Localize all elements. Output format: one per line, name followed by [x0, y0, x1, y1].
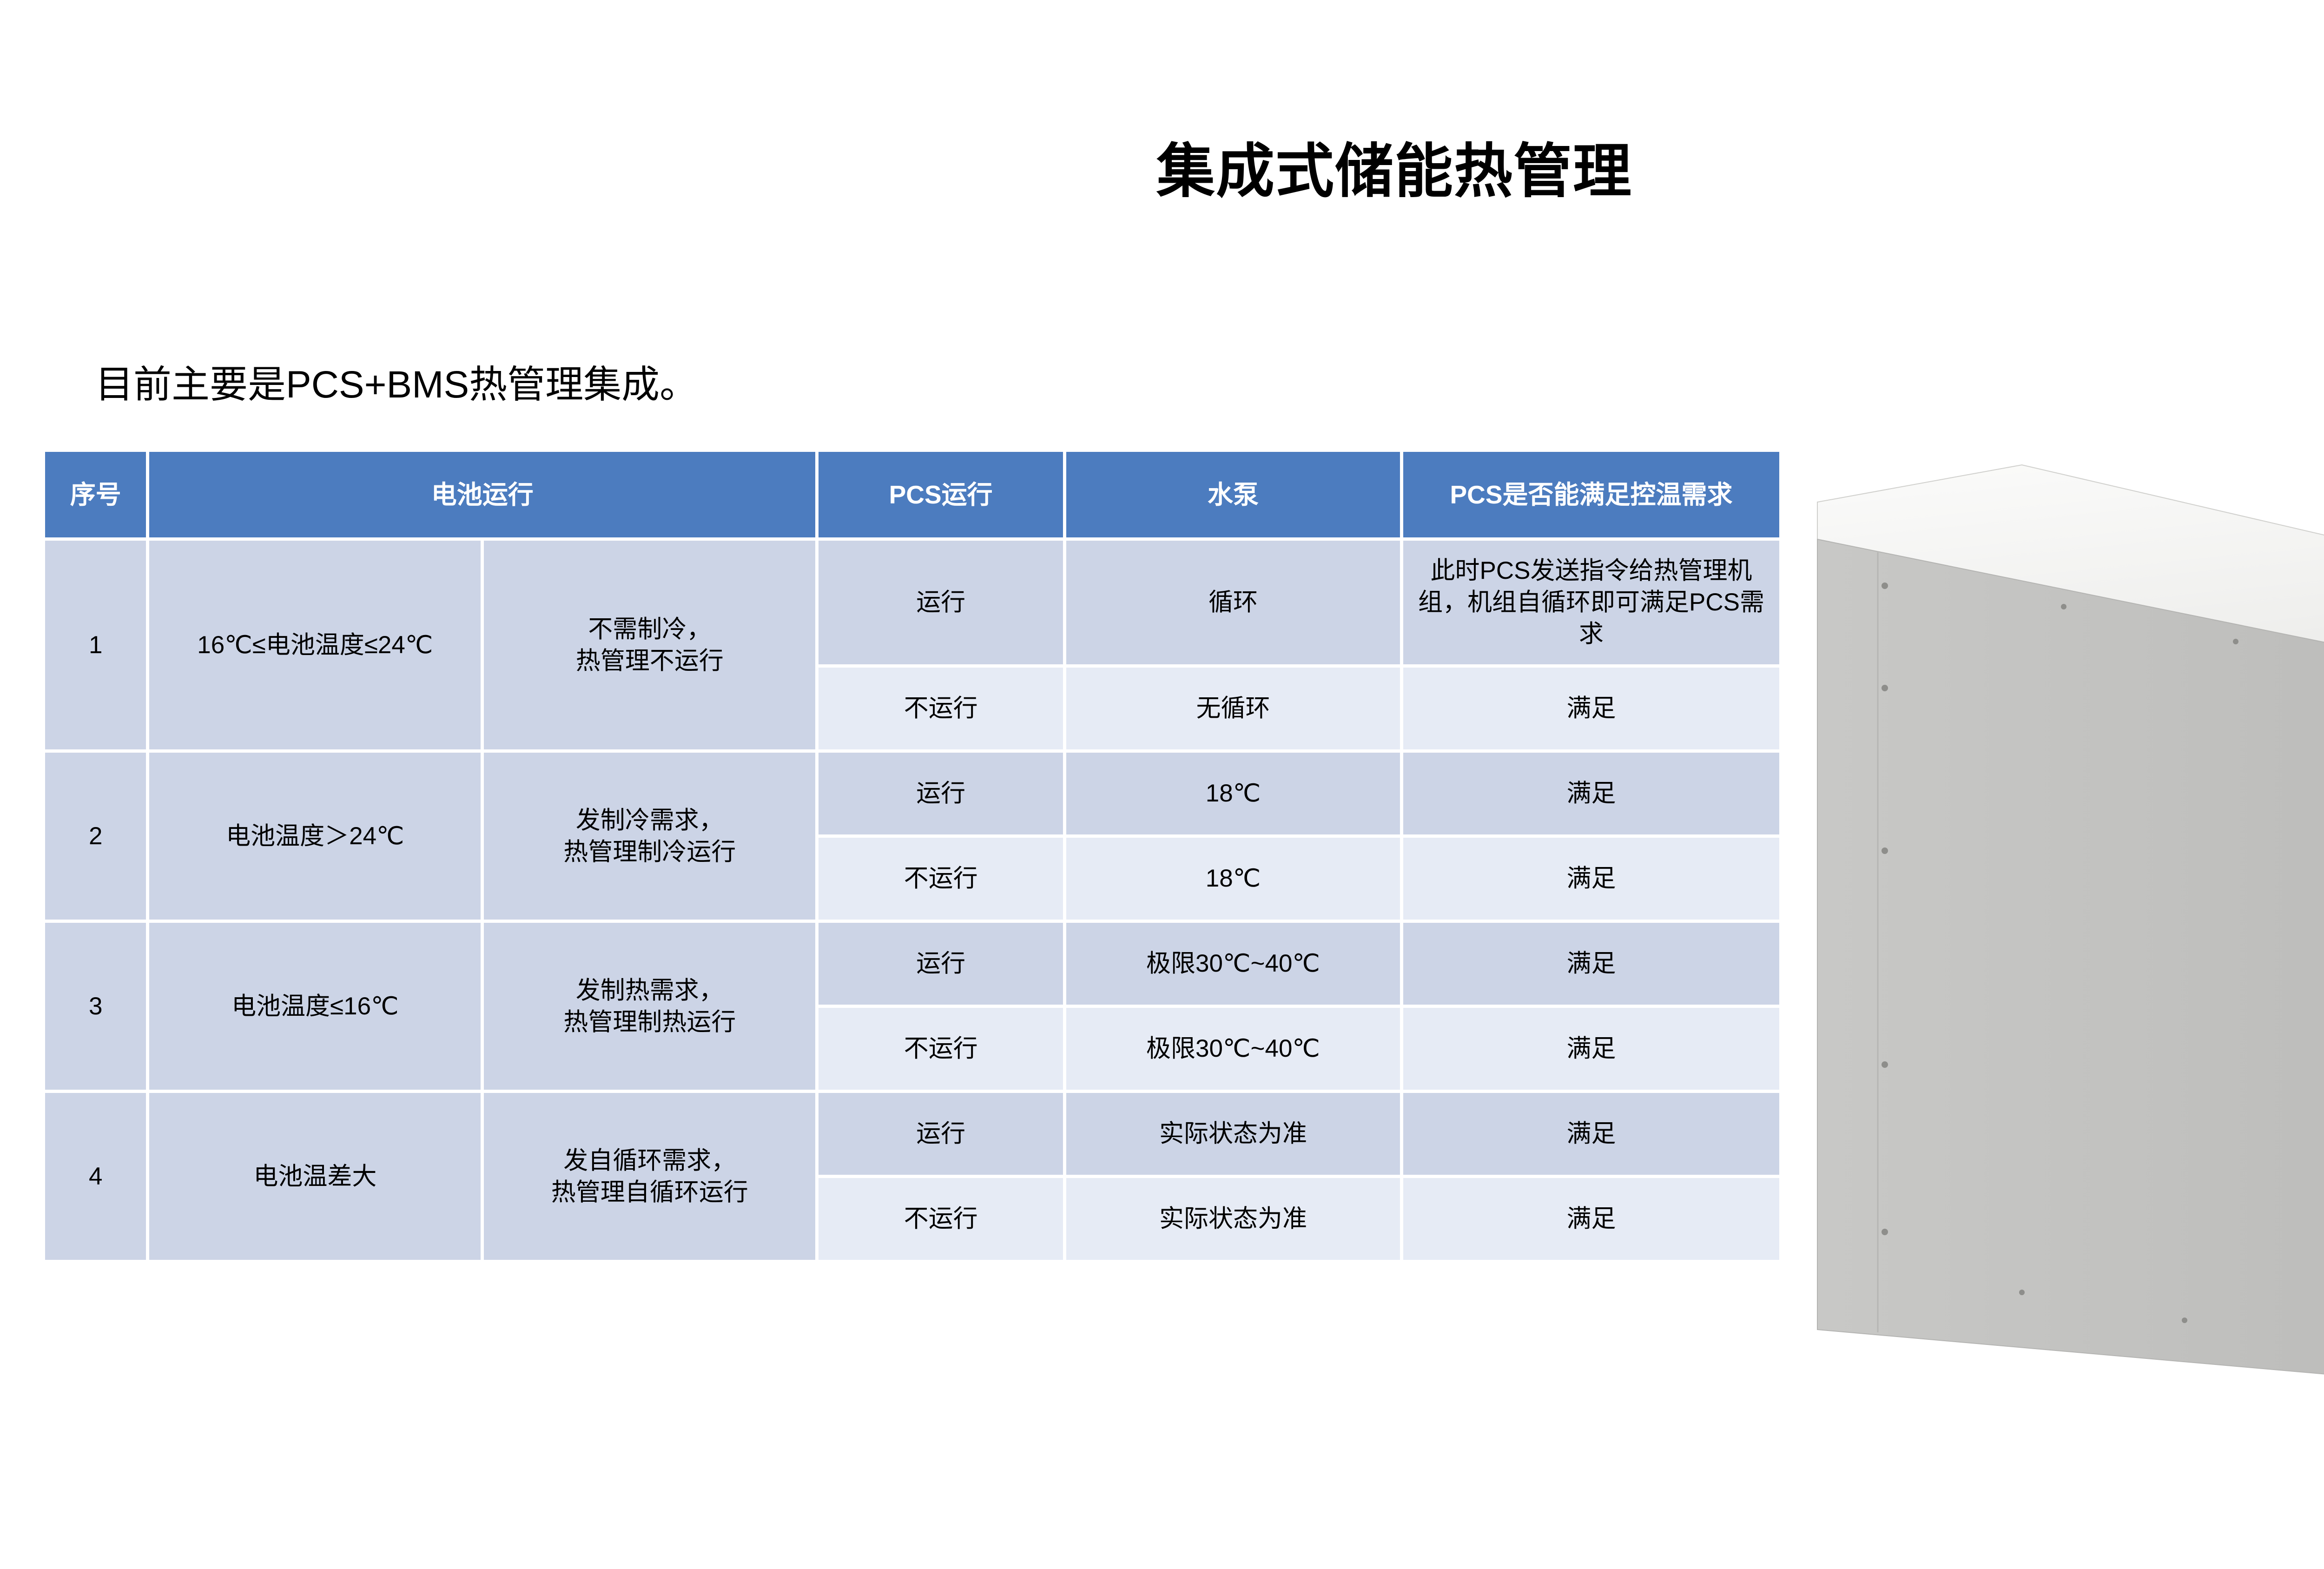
header-pcs: PCS运行	[819, 452, 1063, 537]
cabinet-front-face	[1817, 539, 2324, 1381]
cell-battery-condition: 电池温度≤16℃	[149, 923, 481, 1090]
cell-meet: 满足	[1403, 753, 1779, 834]
cell-battery-action: 发制热需求， 热管理制热运行	[484, 923, 815, 1090]
thermal-management-table: 序号 电池运行 PCS运行 水泵 PCS是否能满足控温需求 1 16℃≤电池温度…	[42, 449, 1783, 1263]
cell-pump: 实际状态为准	[1066, 1093, 1400, 1175]
table-header-row: 序号 电池运行 PCS运行 水泵 PCS是否能满足控温需求	[45, 452, 1779, 537]
cell-pcs: 不运行	[819, 838, 1063, 920]
cell-no: 1	[45, 541, 146, 749]
table-row: 3 电池温度≤16℃ 发制热需求， 热管理制热运行 运行 极限30℃~40℃ 满…	[45, 923, 1779, 1005]
page-title: 集成式储能热管理	[0, 139, 2324, 204]
cell-meet: 满足	[1403, 1093, 1779, 1175]
cell-meet: 满足	[1403, 838, 1779, 920]
table-row: 1 16℃≤电池温度≤24℃ 不需制冷， 热管理不运行 运行 循环 此时PCS发…	[45, 541, 1779, 664]
cell-pcs: 不运行	[819, 1178, 1063, 1260]
cell-battery-condition: 电池温度＞24℃	[149, 753, 481, 920]
cell-meet: 此时PCS发送指令给热管理机组，机组自循环即可满足PCS需求	[1403, 541, 1779, 664]
cell-pcs: 运行	[819, 1093, 1063, 1175]
cell-meet: 满足	[1403, 668, 1779, 749]
cell-pump: 18℃	[1066, 838, 1400, 920]
cell-pump: 无循环	[1066, 668, 1400, 749]
cell-no: 2	[45, 753, 146, 920]
header-no: 序号	[45, 452, 146, 537]
cell-no: 4	[45, 1093, 146, 1260]
cell-pump: 实际状态为准	[1066, 1178, 1400, 1260]
subtitle-text: 目前主要是PCS+BMS热管理集成。	[95, 353, 698, 409]
cell-pcs: 不运行	[819, 1008, 1063, 1090]
cell-pump: 18℃	[1066, 753, 1400, 834]
header-meet: PCS是否能满足控温需求	[1403, 452, 1779, 537]
cell-meet: 满足	[1403, 923, 1779, 1005]
thermal-management-table-wrap: 序号 电池运行 PCS运行 水泵 PCS是否能满足控温需求 1 16℃≤电池温度…	[42, 449, 1783, 1263]
cell-battery-condition: 16℃≤电池温度≤24℃	[149, 541, 481, 749]
product-render-image	[1803, 446, 2324, 1427]
cell-pcs: 运行	[819, 753, 1063, 834]
cell-battery-action: 发自循环需求， 热管理自循环运行	[484, 1093, 815, 1260]
header-battery: 电池运行	[149, 452, 815, 537]
cell-pump: 极限30℃~40℃	[1066, 1008, 1400, 1090]
cell-battery-action: 发制冷需求， 热管理制冷运行	[484, 753, 815, 920]
cell-pcs: 运行	[819, 923, 1063, 1005]
table-row: 4 电池温差大 发自循环需求， 热管理自循环运行 运行 实际状态为准 满足	[45, 1093, 1779, 1175]
cell-meet: 满足	[1403, 1178, 1779, 1260]
table-row: 2 电池温度＞24℃ 发制冷需求， 热管理制冷运行 运行 18℃ 满足	[45, 753, 1779, 834]
cell-meet: 满足	[1403, 1008, 1779, 1090]
cell-pump: 极限30℃~40℃	[1066, 923, 1400, 1005]
cell-battery-condition: 电池温差大	[149, 1093, 481, 1260]
header-pump: 水泵	[1066, 452, 1400, 537]
cell-pcs: 不运行	[819, 668, 1063, 749]
cell-pump: 循环	[1066, 541, 1400, 664]
cell-battery-action: 不需制冷， 热管理不运行	[484, 541, 815, 749]
cell-pcs: 运行	[819, 541, 1063, 664]
cell-no: 3	[45, 923, 146, 1090]
